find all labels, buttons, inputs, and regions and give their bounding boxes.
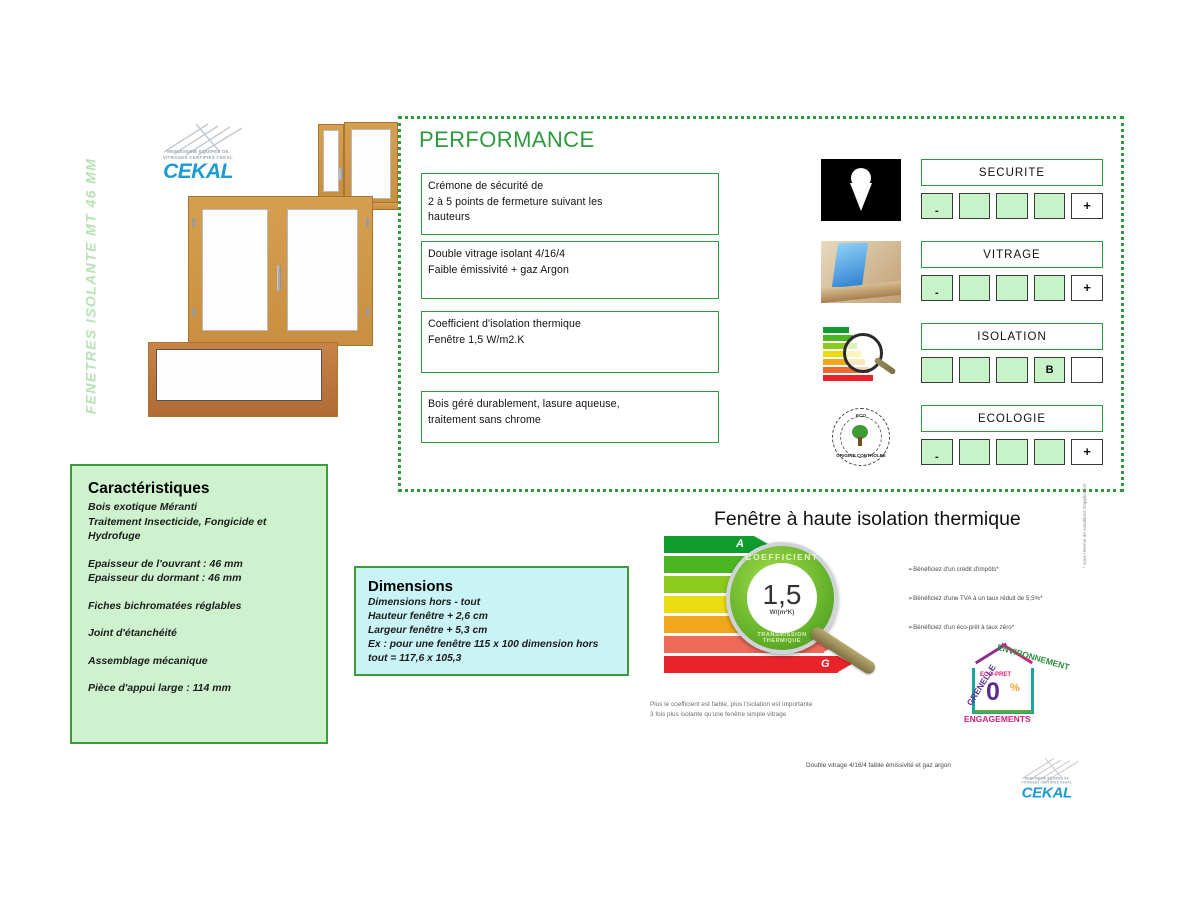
rating-cell[interactable] [959, 275, 991, 301]
rating-cell[interactable] [959, 439, 991, 465]
performance-feature-text: Bois géré durablement, lasure aqueuse, t… [428, 397, 712, 428]
energy-magnifier-icon [821, 323, 901, 385]
rating-label-securite: SECURITE [921, 159, 1103, 186]
benefit-item: ➢Bénéficiez d'un éco-prêt à taux zéro* [908, 624, 1088, 631]
cekal-wordmark: CEKAL [1009, 784, 1084, 801]
performance-feature-box: Coefficient d'isolation thermique Fenêtr… [421, 311, 719, 373]
rating-cells-vitrage: - + [921, 275, 1103, 301]
benefits-list: ➢Bénéficiez d'un crédit d'impôts* ➢Bénéf… [908, 566, 1088, 653]
badge-top-text: COEFFICIENT [742, 552, 822, 562]
vertical-product-title: FENETRES ISOLANTE MT 46 MM [74, 128, 106, 458]
rating-row-vitrage: VITRAGE - + [821, 239, 1111, 313]
carac-line: Epaisseur de l'ouvrant : 46 mm [88, 557, 310, 572]
caption-line-1: Plus le coefficient est faible, plus l'i… [650, 700, 910, 710]
rating-cell[interactable] [959, 193, 991, 219]
cekal-logo: MENUISERIE EQUIPEE DE VITRAGES CERTIFIES… [140, 122, 252, 186]
rating-label-isolation: ISOLATION [921, 323, 1103, 350]
rating-cell[interactable]: + [1071, 193, 1103, 219]
caracteristiques-panel: Caractéristiques Bois exotique Méranti T… [70, 464, 328, 744]
caracteristiques-title: Caractéristiques [88, 480, 310, 498]
rating-cell[interactable] [959, 357, 991, 383]
grenelle-environnement-logo: ECO-PRET 0 % GRENELLE ENVIRONNEMENT ENGA… [948, 646, 1058, 738]
transom-window-image [148, 342, 338, 417]
cekal-wordmark: CEKAL [146, 160, 250, 184]
performance-feature-box: Bois géré durablement, lasure aqueuse, t… [421, 391, 719, 443]
rating-cell[interactable]: - [921, 439, 953, 465]
coefficient-value-circle: 1,5 W/(m²K) [747, 563, 817, 633]
rating-cell[interactable] [1071, 357, 1103, 383]
cekal-tagline-line2: VITRAGES CERTIFIES CEKAL [163, 155, 233, 160]
performance-feature-box: Double vitrage isolant 4/16/4 Faible émi… [421, 241, 719, 299]
footer-text: Double vitrage 4/16/4 faible émissivité … [806, 762, 951, 769]
rating-cell[interactable] [921, 357, 953, 383]
dimensions-line: Hauteur fenêtre + 2,6 cm [368, 610, 615, 624]
carac-line: Joint d'étanchéité [88, 626, 310, 641]
marketing-headline: Fenêtre à haute isolation thermique [714, 508, 1021, 531]
conditions-footnote: * sous réserve de conditions d'applicati… [1082, 468, 1087, 568]
coefficient-value: 1,5 [763, 581, 802, 609]
percent-symbol: % [1010, 682, 1020, 694]
energy-bar-letter: G [821, 656, 830, 673]
rating-row-ecologie: ECO ORIGINE CONTROLEE ECOLOGIE - + [821, 403, 1111, 477]
cekal-tagline: MENUISERIE EQUIPEE DE VITRAGES CERTIFIES… [146, 149, 250, 160]
rating-cells-isolation: B [921, 357, 1103, 383]
coefficient-magnifier: COEFFICIENT TRANSMISSION THERMIQUE 1,5 W… [726, 542, 836, 652]
performance-feature-box: Crémone de sécurité de 2 à 5 points de f… [421, 173, 719, 235]
energy-label-chart: A F G COEFFICIENT [664, 536, 889, 696]
rating-label-ecologie: ECOLOGIE [921, 405, 1103, 432]
dimensions-line: Ex : pour une fenêtre 115 x 100 dimensio… [368, 638, 615, 652]
carac-line: Hydrofuge [88, 529, 310, 544]
dimensions-title: Dimensions [368, 578, 615, 595]
performance-feature-text: Double vitrage isolant 4/16/4 Faible émi… [428, 247, 712, 278]
rating-cell[interactable]: + [1071, 439, 1103, 465]
dimensions-line: tout = 117,6 x 105,3 [368, 652, 615, 666]
house-base-icon [974, 710, 1032, 713]
rating-row-isolation: ISOLATION B [821, 321, 1111, 395]
rating-cells-securite: - + [921, 193, 1103, 219]
rating-cell[interactable]: - [921, 275, 953, 301]
glazing-photo-icon [821, 241, 901, 303]
cekal-tagline-line1: MENUISERIE EQUIPEE DE [167, 149, 229, 154]
cekal-logo-footer: MENUISERIE EQUIPEE DE VITRAGES CERTIFIES… [1005, 757, 1064, 790]
zero-percent-value: 0 [986, 680, 1000, 705]
dimensions-line: Largeur fenêtre + 5,3 cm [368, 624, 615, 638]
vertical-product-title-text: FENETRES ISOLANTE MT 46 MM [82, 158, 98, 415]
rating-cell[interactable] [1034, 439, 1066, 465]
rating-cell[interactable] [996, 275, 1028, 301]
rating-label-vitrage: VITRAGE [921, 241, 1103, 268]
performance-title: PERFORMANCE [419, 127, 595, 153]
benefit-item: ➢Bénéficiez d'un crédit d'impôts* [908, 566, 1088, 573]
carac-line: Epaisseur du dormant : 46 mm [88, 571, 310, 586]
rating-cell-selected[interactable]: B [1034, 357, 1066, 383]
rating-cell[interactable] [996, 439, 1028, 465]
carac-line: Pièce d'appui large : 114 mm [88, 681, 310, 696]
performance-feature-text: Coefficient d'isolation thermique Fenêtr… [428, 317, 712, 348]
coefficient-unit: W/(m²K) [770, 609, 795, 616]
carac-line: Bois exotique Méranti [88, 500, 310, 515]
performance-feature-text: Crémone de sécurité de 2 à 5 points de f… [428, 179, 712, 226]
carac-line: Assemblage mécanique [88, 654, 310, 669]
rating-cell[interactable]: + [1071, 275, 1103, 301]
keyhole-lock-icon [821, 159, 901, 221]
rating-cell[interactable] [996, 193, 1028, 219]
benefit-item: ➢Bénéficiez d'une TVA à un taux réduit d… [908, 595, 1088, 602]
caption-line-2: 3 fois plus isolante qu'une fenêtre simp… [650, 710, 910, 720]
carac-line: Fiches bichromatées réglables [88, 599, 310, 614]
rating-row-securite: SECURITE - + [821, 157, 1111, 231]
performance-panel: PERFORMANCE Crémone de sécurité de 2 à 5… [398, 116, 1124, 492]
dimensions-panel: Dimensions Dimensions hors - tout Hauteu… [354, 566, 629, 676]
dimensions-line: Dimensions hors - tout [368, 596, 615, 610]
datasheet-page: FENETRES ISOLANTE MT 46 MM MENUISERIE EQ… [0, 0, 1202, 901]
energy-label-caption: Plus le coefficient est faible, plus l'i… [650, 700, 910, 720]
rating-cells-ecologie: - + [921, 439, 1103, 465]
rating-cell[interactable]: - [921, 193, 953, 219]
double-casement-window-image [188, 196, 373, 346]
rating-cell[interactable] [1034, 193, 1066, 219]
rating-cell[interactable] [1034, 275, 1066, 301]
carac-line: Traitement Insecticide, Fongicide et [88, 515, 310, 530]
eco-tree-stamp-icon: ECO ORIGINE CONTROLEE [821, 405, 901, 467]
rating-cell[interactable] [996, 357, 1028, 383]
cekal-tagline: MENUISERIE EQUIPEE DE VITRAGES CERTIFIES… [1009, 776, 1084, 784]
grenelle-word-3: ENGAGEMENTS [964, 714, 1031, 724]
